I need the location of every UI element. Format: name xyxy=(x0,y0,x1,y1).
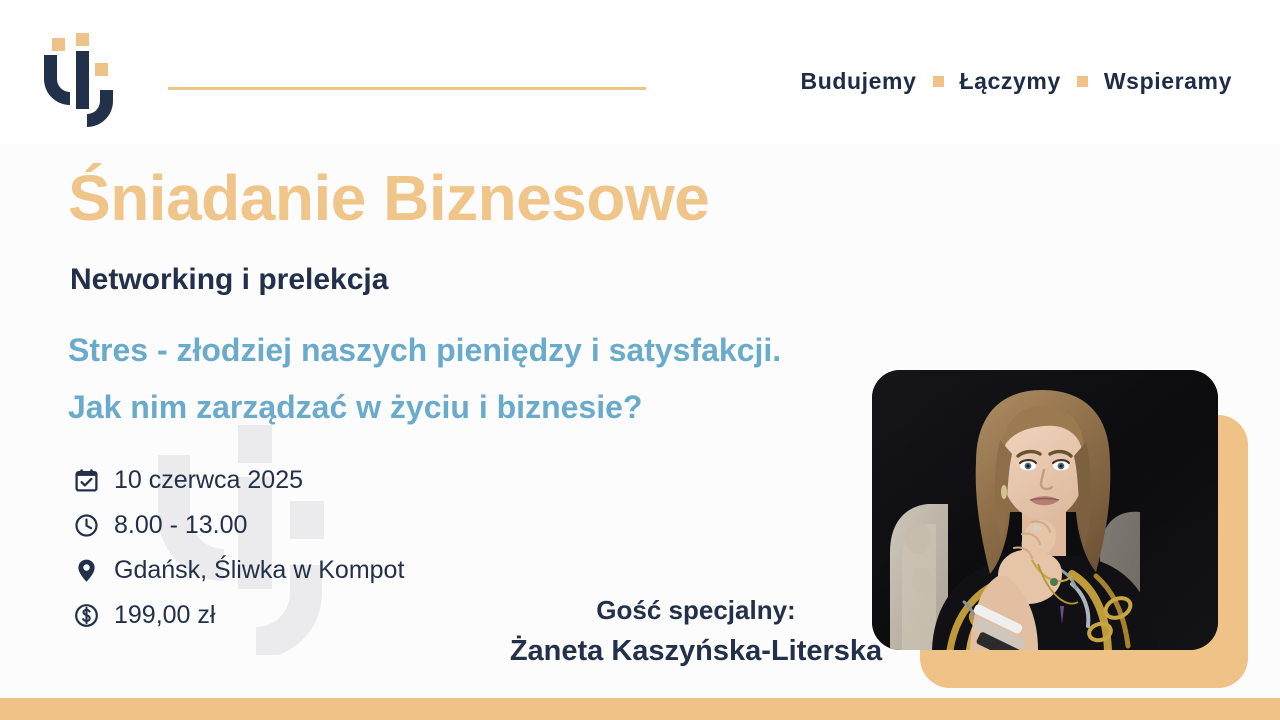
event-poster: Budujemy Łączymy Wspieramy Śniadanie Biz… xyxy=(0,0,1280,720)
speaker-portrait-photo xyxy=(872,370,1218,650)
square-bullet-icon xyxy=(1077,76,1088,87)
page-header: Budujemy Łączymy Wspieramy xyxy=(0,0,1280,143)
tagline-word-2: Łączymy xyxy=(960,68,1061,95)
list-item: Gdańsk, Śliwka w Kompot xyxy=(72,548,404,593)
square-bullet-icon xyxy=(933,76,944,87)
gold-footer-bar xyxy=(0,698,1280,720)
special-guest-name: Żaneta Kaszyńska-Literska xyxy=(470,630,922,672)
clock-icon xyxy=(72,512,100,540)
list-item: 10 czerwca 2025 xyxy=(72,458,404,503)
special-guest-label: Gość specjalny: xyxy=(470,592,922,630)
header-divider xyxy=(168,87,646,90)
calendar-check-icon xyxy=(72,467,100,495)
talk-description: Stres - złodziej naszych pieniędzy i sat… xyxy=(68,322,781,436)
talk-description-line-1: Stres - złodziej naszych pieniędzy i sat… xyxy=(68,322,781,379)
detail-location: Gdańsk, Śliwka w Kompot xyxy=(114,556,404,585)
page-title: Śniadanie Biznesowe xyxy=(68,166,709,230)
brand-tagline: Budujemy Łączymy Wspieramy xyxy=(801,68,1232,95)
detail-price: 199,00 zł xyxy=(114,601,215,630)
detail-time: 8.00 - 13.00 xyxy=(114,511,247,540)
list-item: 199,00 zł xyxy=(72,593,404,638)
list-item: 8.00 - 13.00 xyxy=(72,503,404,548)
vj-monogram-logo-icon[interactable] xyxy=(38,33,134,133)
event-details-list: 10 czerwca 2025 8.00 - 13.00 Gdańsk, Śli… xyxy=(72,458,404,638)
location-pin-icon xyxy=(72,557,100,585)
tagline-word-3: Wspieramy xyxy=(1104,68,1232,95)
talk-description-line-2: Jak nim zarządzać w życiu i biznesie? xyxy=(68,379,781,436)
detail-date: 10 czerwca 2025 xyxy=(114,466,303,495)
tagline-word-1: Budujemy xyxy=(801,68,917,95)
special-guest-block: Gość specjalny: Żaneta Kaszyńska-Litersk… xyxy=(470,592,922,672)
dollar-circle-icon xyxy=(72,602,100,630)
page-subtitle: Networking i prelekcja xyxy=(70,263,388,297)
